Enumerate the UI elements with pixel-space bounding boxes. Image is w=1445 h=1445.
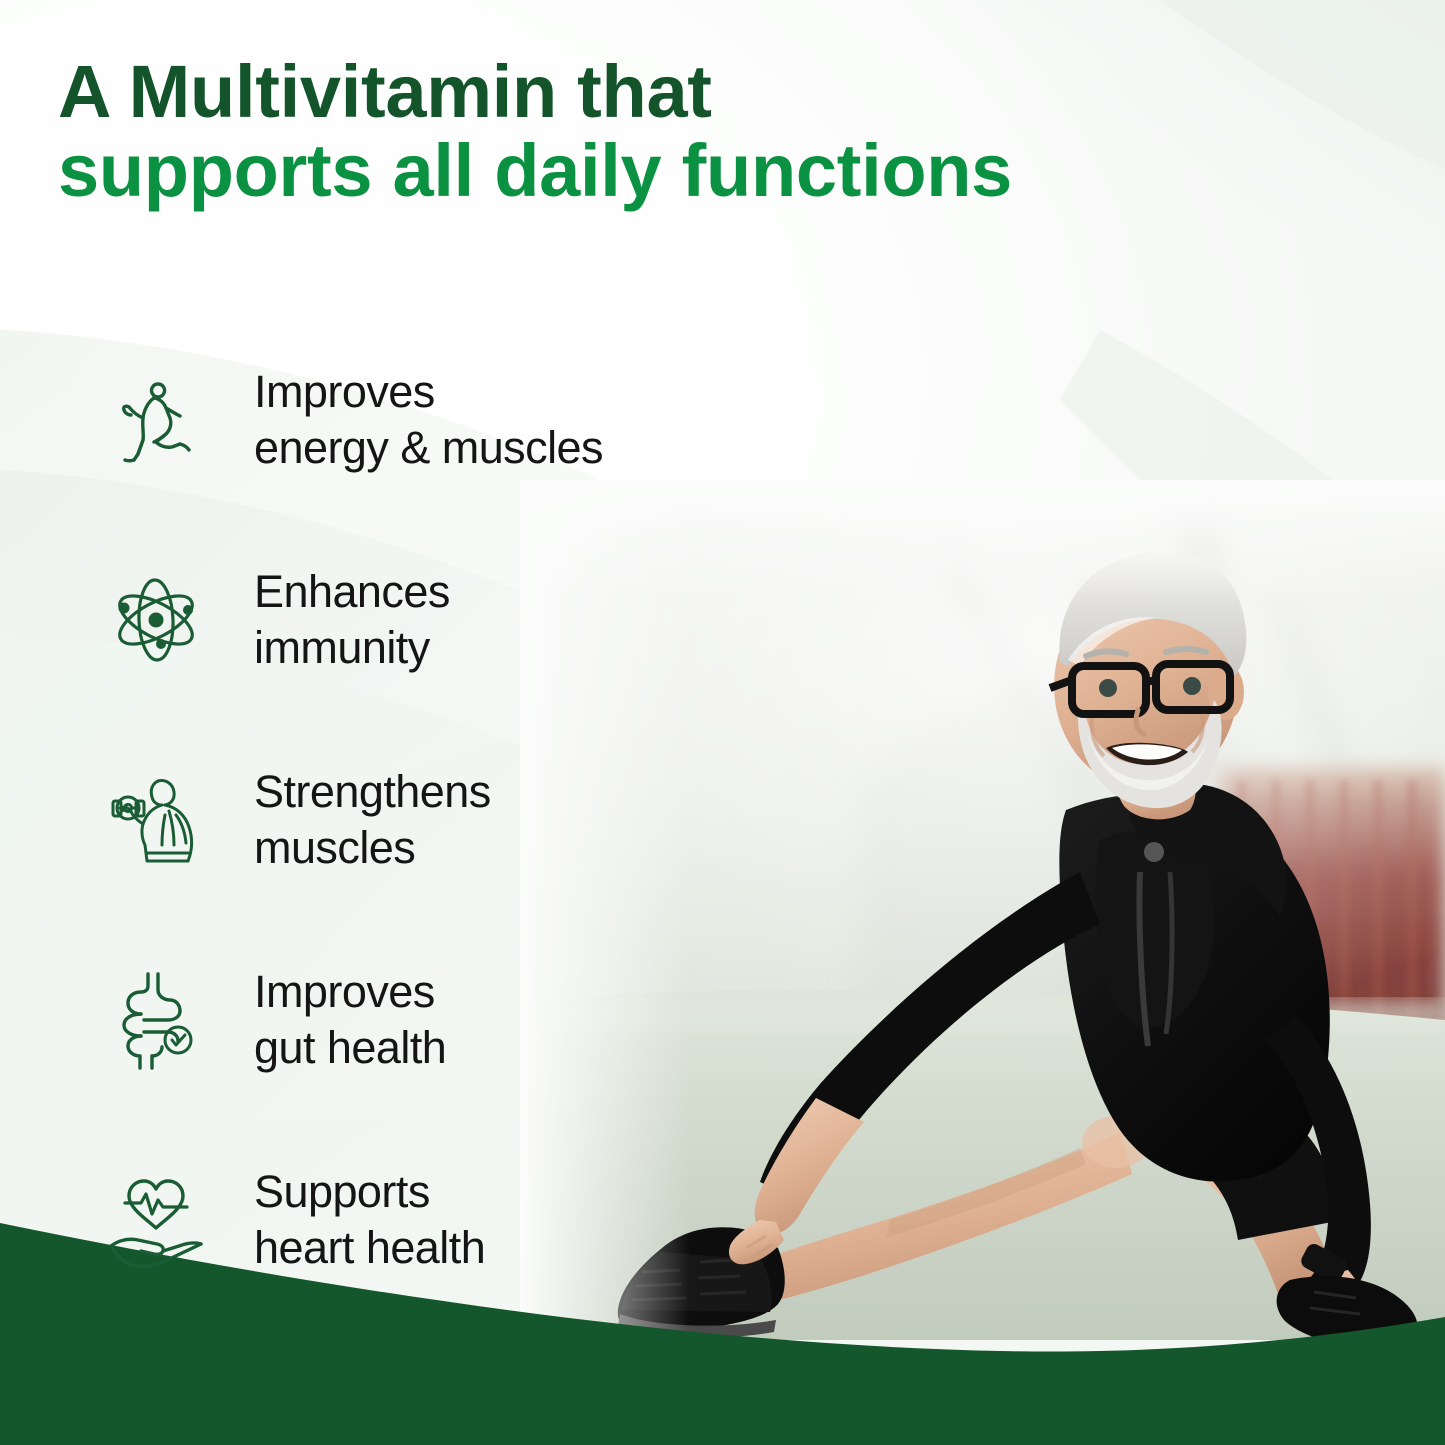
list-item-strengthens-muscles: Strengthens muscles — [100, 720, 860, 920]
list-item-label: Supports heart health — [254, 1164, 485, 1276]
list-item-label: Improves gut health — [254, 964, 446, 1076]
page-title: A Multivitamin that supports all daily f… — [58, 56, 1258, 207]
benefits-list: Improves energy & muscles Enhances immun… — [100, 320, 860, 1320]
intestine-check-icon — [100, 968, 212, 1072]
list-item-improves-gut-health: Improves gut health — [100, 920, 860, 1120]
headline-line-2: supports all daily functions — [58, 135, 1258, 208]
heart-hand-icon — [100, 1168, 212, 1272]
list-item-label: Improves energy & muscles — [254, 364, 603, 476]
list-item-improves-energy-muscles: Improves energy & muscles — [100, 320, 860, 520]
list-item-label: Strengthens muscles — [254, 764, 491, 876]
list-item-label: Enhances immunity — [254, 564, 450, 676]
multivitamin-benefits-banner: A Multivitamin that supports all daily f… — [0, 0, 1445, 1445]
bodybuilder-icon — [100, 768, 212, 872]
list-item-enhances-immunity: Enhances immunity — [100, 520, 860, 720]
atom-icon — [100, 568, 212, 672]
running-man-icon — [100, 368, 212, 472]
list-item-supports-heart-health: Supports heart health — [100, 1120, 860, 1320]
headline-line-1: A Multivitamin that — [58, 56, 1258, 129]
